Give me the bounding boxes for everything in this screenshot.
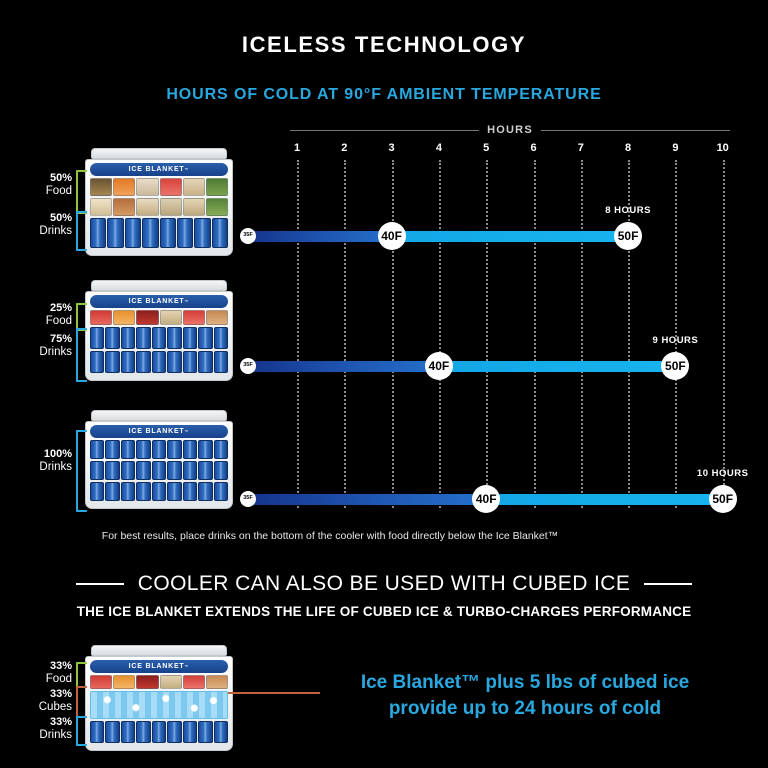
drink-can xyxy=(167,482,181,501)
section-title: COOLER CAN ALSO BE USED WITH CUBED ICE xyxy=(138,572,630,596)
temp-marker-start-row-50-50: 35F xyxy=(240,228,256,244)
drink-can xyxy=(152,327,166,349)
segment-word: Food xyxy=(28,185,72,198)
segment-word: Food xyxy=(28,315,72,328)
food-item xyxy=(160,178,182,196)
trademark-symbol: ™ xyxy=(185,664,190,669)
drink-can xyxy=(125,218,141,248)
food-item xyxy=(206,675,228,689)
cooler-illustration-row3: ICE BLANKET™ xyxy=(85,410,233,509)
drink-can xyxy=(160,218,176,248)
bar-warm-row-25-75 xyxy=(439,361,676,372)
drink-can xyxy=(198,327,212,349)
drink-can xyxy=(167,351,181,373)
segment-label-row1-drinks: 50% Drinks xyxy=(24,212,72,238)
axis-tick-7: 7 xyxy=(578,142,584,154)
food-shelf xyxy=(90,198,228,216)
drink-can xyxy=(136,440,150,459)
bracket-cubed-drinks xyxy=(76,716,87,746)
food-item xyxy=(206,198,228,216)
drink-can xyxy=(167,327,181,349)
food-item xyxy=(136,198,158,216)
drink-can xyxy=(214,482,228,501)
temp-marker-mid-row-50-50: 40F xyxy=(378,222,406,250)
food-item xyxy=(206,178,228,196)
drink-can xyxy=(214,440,228,459)
food-item xyxy=(90,198,112,216)
cooler-lid xyxy=(91,148,227,159)
hours-axis-header: HOURS xyxy=(290,122,730,138)
axis-tick-10: 10 xyxy=(717,142,729,154)
bracket-row1-drinks xyxy=(76,211,87,251)
section-subtitle: THE ICE BLANKET EXTENDS THE LIFE OF CUBE… xyxy=(0,604,768,619)
axis-rule-right xyxy=(541,130,730,131)
drink-row xyxy=(90,351,228,373)
cubed-ice-layer xyxy=(90,691,228,719)
axis-tick-9: 9 xyxy=(672,142,678,154)
ice-blanket-label: ICE BLANKET xyxy=(129,298,185,305)
drink-can xyxy=(212,218,228,248)
ice-blanket-label: ICE BLANKET xyxy=(129,428,185,435)
segment-label-row1-food: 50% Food xyxy=(28,172,72,198)
drink-can xyxy=(167,440,181,459)
drink-can xyxy=(183,440,197,459)
temp-marker-mid-row-100-drinks: 40F xyxy=(472,485,500,513)
food-item xyxy=(90,178,112,196)
ice-blanket-band: ICE BLANKET™ xyxy=(90,660,228,673)
drink-can xyxy=(121,351,135,373)
drink-can xyxy=(90,327,104,349)
drink-can xyxy=(183,327,197,349)
food-item xyxy=(183,310,205,325)
drink-can xyxy=(194,218,210,248)
drink-can xyxy=(105,461,119,480)
trademark-symbol: ™ xyxy=(185,429,190,434)
segment-word: Drinks xyxy=(24,346,72,359)
drink-can xyxy=(105,327,119,349)
gridline-hour-4 xyxy=(439,160,441,508)
drink-can xyxy=(152,440,166,459)
drink-row xyxy=(90,721,228,743)
drink-can xyxy=(90,351,104,373)
temp-marker-end-row-50-50: 50F xyxy=(614,222,642,250)
segment-word: Food xyxy=(28,673,72,686)
bar-cold-row-100-drinks xyxy=(248,494,486,505)
food-item xyxy=(113,198,135,216)
gridline-hour-3 xyxy=(392,160,394,508)
drink-can xyxy=(136,482,150,501)
segment-label-cubed-food: 33% Food xyxy=(28,660,72,686)
cooler-body: ICE BLANKET™ xyxy=(85,159,233,256)
drink-can xyxy=(198,721,212,743)
axis-rule-left xyxy=(290,130,479,131)
drink-row xyxy=(90,440,228,459)
ice-blanket-band: ICE BLANKET™ xyxy=(90,295,228,308)
bar-cold-row-50-50 xyxy=(248,231,392,242)
drink-can xyxy=(105,440,119,459)
segment-word: Drinks xyxy=(22,729,72,742)
promo-line-2: provide up to 24 hours of cold xyxy=(310,696,740,722)
axis-tick-8: 8 xyxy=(625,142,631,154)
gridline-hour-9 xyxy=(675,160,677,508)
segment-percent: 33% xyxy=(22,716,72,729)
cooler-lid xyxy=(91,410,227,421)
drink-can xyxy=(136,721,150,743)
cooler-body: ICE BLANKET™ xyxy=(85,291,233,381)
cooler-lid xyxy=(91,280,227,291)
temp-marker-end-row-25-75: 50F xyxy=(661,352,689,380)
food-item xyxy=(113,310,135,325)
duration-callout-row-100-drinks: 10 HOURS xyxy=(697,468,749,479)
segment-word: Drinks xyxy=(18,461,72,474)
drink-can xyxy=(167,461,181,480)
cooler-body: ICE BLANKET™ xyxy=(85,656,233,751)
bracket-row2-food xyxy=(76,303,87,331)
drink-can xyxy=(90,482,104,501)
drink-can xyxy=(183,351,197,373)
trademark-symbol: ™ xyxy=(185,167,190,172)
duration-callout-row-50-50: 8 HOURS xyxy=(605,205,651,216)
drink-can xyxy=(121,721,135,743)
callout-connector-line xyxy=(228,692,320,694)
drink-can xyxy=(136,327,150,349)
drink-can xyxy=(198,461,212,480)
gridline-hour-5 xyxy=(486,160,488,508)
food-item xyxy=(136,675,158,689)
drink-can xyxy=(152,721,166,743)
bracket-row1-food xyxy=(76,170,87,214)
food-item xyxy=(183,178,205,196)
ice-blanket-band: ICE BLANKET™ xyxy=(90,163,228,176)
cooler-body: ICE BLANKET™ xyxy=(85,421,233,509)
segment-percent: 75% xyxy=(24,333,72,346)
food-item xyxy=(206,310,228,325)
drink-can xyxy=(142,218,158,248)
drink-can xyxy=(152,461,166,480)
drink-can xyxy=(90,721,104,743)
bracket-cubed-cubes xyxy=(76,686,87,718)
cooler-illustration-cubed: ICE BLANKET™ xyxy=(85,645,233,751)
axis-tick-4: 4 xyxy=(436,142,442,154)
bracket-row3-drinks xyxy=(76,430,87,512)
gridline-hour-7 xyxy=(581,160,583,508)
drink-can xyxy=(121,461,135,480)
segment-label-row2-drinks: 75% Drinks xyxy=(24,333,72,359)
drink-row xyxy=(90,482,228,501)
segment-percent: 100% xyxy=(18,448,72,461)
axis-label-hours: HOURS xyxy=(487,124,533,136)
divider-line-left xyxy=(76,583,124,585)
axis-tick-1: 1 xyxy=(294,142,300,154)
food-shelf xyxy=(90,178,228,196)
drink-can xyxy=(167,721,181,743)
drink-can xyxy=(121,482,135,501)
segment-percent: 25% xyxy=(28,302,72,315)
drink-row xyxy=(90,327,228,349)
segment-label-row2-food: 25% Food xyxy=(28,302,72,328)
drink-row xyxy=(90,218,228,248)
divider-line-right xyxy=(644,583,692,585)
gridline-hour-6 xyxy=(534,160,536,508)
drink-can xyxy=(214,721,228,743)
temp-marker-start-row-25-75: 35F xyxy=(240,358,256,374)
segment-percent: 33% xyxy=(22,688,72,701)
segment-percent: 33% xyxy=(28,660,72,673)
bar-cold-row-25-75 xyxy=(248,361,439,372)
gridline-hour-2 xyxy=(344,160,346,508)
drink-can xyxy=(152,351,166,373)
food-shelf xyxy=(90,675,228,689)
promo-text: Ice Blanket™ plus 5 lbs of cubed ice pro… xyxy=(310,670,740,721)
food-item xyxy=(160,675,182,689)
footnote-text: For best results, place drinks on the bo… xyxy=(0,530,660,542)
drink-can xyxy=(105,721,119,743)
promo-line-1: Ice Blanket™ plus 5 lbs of cubed ice xyxy=(310,670,740,696)
drink-row xyxy=(90,461,228,480)
food-item xyxy=(136,178,158,196)
food-item xyxy=(113,675,135,689)
segment-label-cubed-cubes: 33% Cubes xyxy=(22,688,72,714)
gridline-hour-1 xyxy=(297,160,299,508)
drink-can xyxy=(198,440,212,459)
drink-can xyxy=(214,327,228,349)
drink-can xyxy=(136,461,150,480)
drink-can xyxy=(136,351,150,373)
duration-callout-row-25-75: 9 HOURS xyxy=(653,335,699,346)
drink-can xyxy=(105,482,119,501)
axis-tick-3: 3 xyxy=(389,142,395,154)
trademark-symbol: ™ xyxy=(185,299,190,304)
drink-can xyxy=(90,440,104,459)
drink-can xyxy=(105,351,119,373)
food-item xyxy=(183,198,205,216)
food-item xyxy=(90,310,112,325)
axis-tick-5: 5 xyxy=(483,142,489,154)
drink-can xyxy=(183,461,197,480)
ice-blanket-band: ICE BLANKET™ xyxy=(90,425,228,438)
food-item xyxy=(90,675,112,689)
temp-marker-mid-row-25-75: 40F xyxy=(425,352,453,380)
axis-tick-2: 2 xyxy=(341,142,347,154)
drink-can xyxy=(183,482,197,501)
drink-can xyxy=(121,327,135,349)
drink-can xyxy=(198,351,212,373)
ice-blanket-label: ICE BLANKET xyxy=(129,663,185,670)
food-item xyxy=(160,310,182,325)
drink-can xyxy=(214,461,228,480)
drink-can xyxy=(183,721,197,743)
segment-percent: 50% xyxy=(28,172,72,185)
bar-warm-row-50-50 xyxy=(392,231,629,242)
drink-can xyxy=(90,461,104,480)
segment-word: Drinks xyxy=(24,225,72,238)
food-item xyxy=(160,198,182,216)
cooler-illustration-row1: ICE BLANKET™ xyxy=(85,148,233,256)
ice-blanket-label: ICE BLANKET xyxy=(129,166,185,173)
page-subtitle: HOURS OF COLD AT 90°F AMBIENT TEMPERATUR… xyxy=(0,86,768,104)
temp-marker-end-row-100-drinks: 50F xyxy=(709,485,737,513)
cooler-illustration-row2: ICE BLANKET™ xyxy=(85,280,233,381)
segment-word: Cubes xyxy=(22,701,72,714)
segment-percent: 50% xyxy=(24,212,72,225)
bar-warm-row-100-drinks xyxy=(486,494,723,505)
temp-marker-start-row-100-drinks: 35F xyxy=(240,491,256,507)
segment-label-cubed-drinks: 33% Drinks xyxy=(22,716,72,742)
drink-can xyxy=(177,218,193,248)
bracket-cubed-food xyxy=(76,662,87,688)
axis-tick-6: 6 xyxy=(530,142,536,154)
food-shelf xyxy=(90,310,228,325)
page-title: ICELESS TECHNOLOGY xyxy=(0,32,768,58)
food-item xyxy=(136,310,158,325)
drink-can xyxy=(90,218,106,248)
drink-can xyxy=(152,482,166,501)
drink-can xyxy=(107,218,123,248)
bracket-row2-drinks xyxy=(76,328,87,382)
drink-can xyxy=(198,482,212,501)
cooler-lid xyxy=(91,645,227,656)
infographic-canvas: ICELESS TECHNOLOGY HOURS OF COLD AT 90°F… xyxy=(0,0,768,768)
gridline-hour-10 xyxy=(723,160,725,508)
drink-can xyxy=(214,351,228,373)
food-item xyxy=(113,178,135,196)
section-divider-row: COOLER CAN ALSO BE USED WITH CUBED ICE xyxy=(0,572,768,596)
food-item xyxy=(183,675,205,689)
segment-label-row3-drinks: 100% Drinks xyxy=(18,448,72,474)
drink-can xyxy=(121,440,135,459)
